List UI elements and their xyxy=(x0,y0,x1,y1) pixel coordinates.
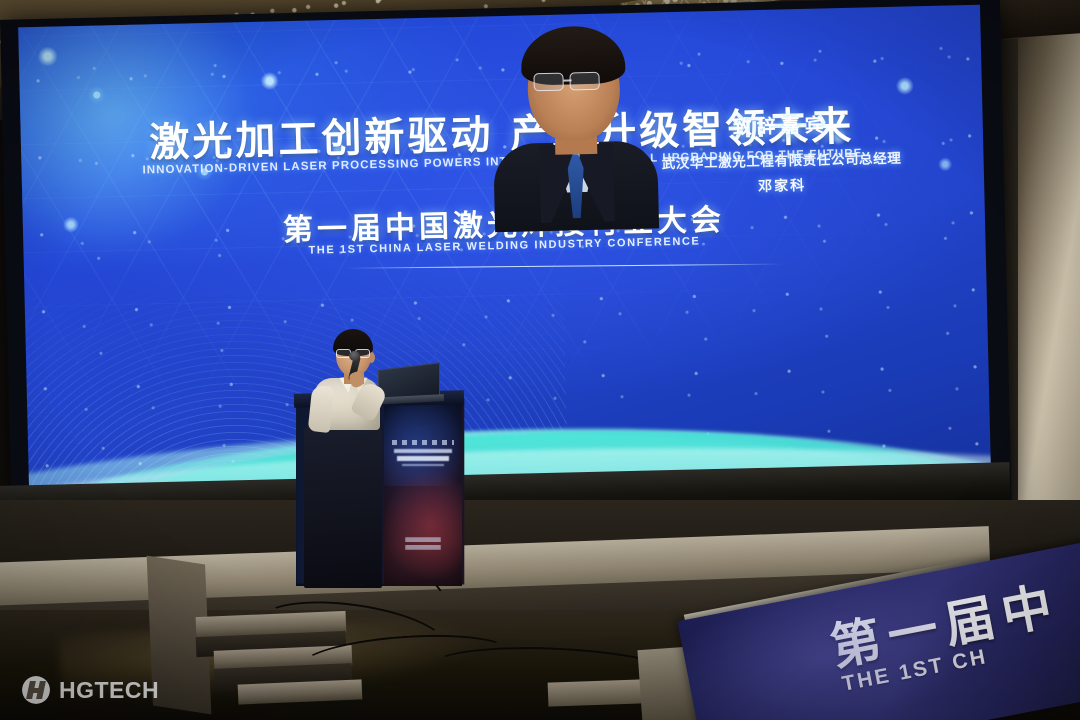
speaker-trousers xyxy=(304,424,382,588)
podium-banner-line-2 xyxy=(397,456,449,461)
podium-sponsor-logos xyxy=(392,440,454,445)
led-screen: 激光加工创新驱动 产业升级智领未来 INNOVATION-DRIVEN LASE… xyxy=(18,5,991,524)
portrait-glasses-right-icon xyxy=(569,72,599,91)
watermark: HGTECH xyxy=(22,676,159,704)
slide-content: 激光加工创新驱动 产业升级智领未来 INNOVATION-DRIVEN LASE… xyxy=(18,5,991,524)
led-screen-frame: 激光加工创新驱动 产业升级智领未来 INNOVATION-DRIVEN LASE… xyxy=(0,0,1012,540)
slide-divider xyxy=(344,264,784,270)
watermark-label: HGTECH xyxy=(59,677,159,704)
hgtech-logo-icon xyxy=(22,676,50,704)
portrait-glasses-bridge-icon xyxy=(564,79,572,81)
foreground-banner-text-en: THE 1ST CH xyxy=(840,645,989,697)
podium-banner-line-3 xyxy=(402,464,444,466)
conference-photo: 激光加工创新驱动 产业升级智领未来 INNOVATION-DRIVEN LASE… xyxy=(0,0,1080,720)
hgtech-logo-bar-icon xyxy=(30,688,43,693)
podium-bottom-mark xyxy=(405,537,441,550)
podium-red-glow xyxy=(384,470,462,580)
podium-banner-graphic xyxy=(392,440,454,472)
portrait-glasses-left-icon xyxy=(533,73,563,92)
podium-banner-line-1 xyxy=(394,449,452,453)
